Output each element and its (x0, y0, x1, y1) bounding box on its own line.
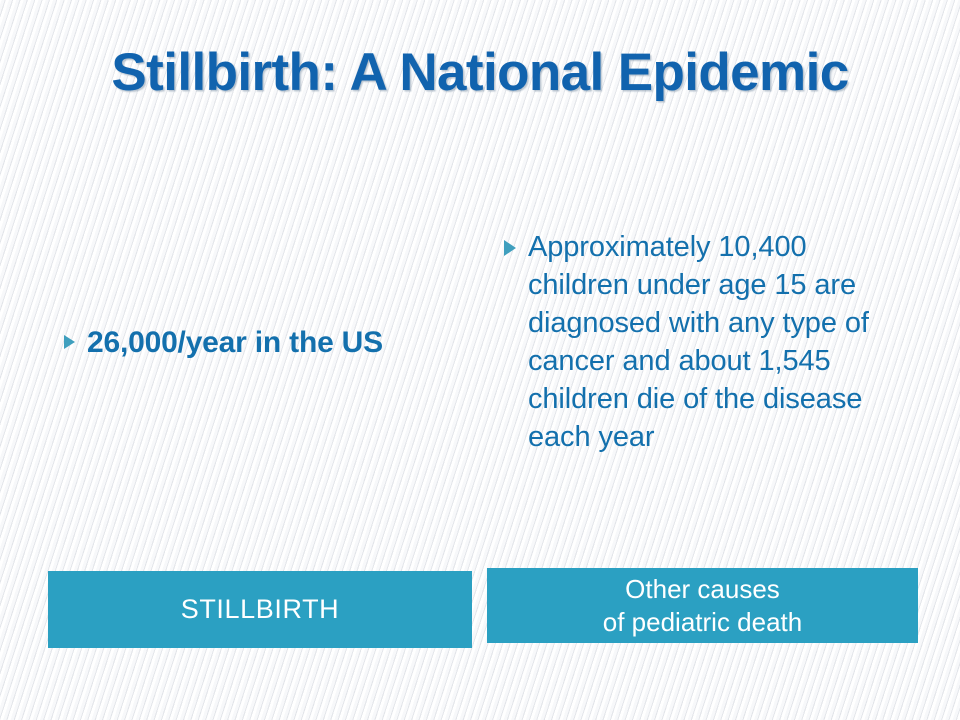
bullet-item-stillbirth-rate: 26,000/year in the US (64, 325, 474, 360)
label-box-other-causes: Other causes of pediatric death (487, 568, 918, 643)
bullet-item-cancer-stats: Approximately 10,400 children under age … (504, 228, 914, 456)
triangle-bullet-icon (504, 240, 516, 256)
bullet-text-stillbirth-rate: 26,000/year in the US (87, 325, 383, 360)
label-box-other-causes-line-1: Other causes (603, 573, 802, 606)
label-box-stillbirth-line-1: STILLBIRTH (181, 594, 340, 625)
slide-canvas: Stillbirth: A National Epidemic 26,000/y… (0, 0, 960, 720)
triangle-bullet-icon (64, 335, 75, 349)
page-title: Stillbirth: A National Epidemic (0, 44, 960, 101)
label-box-stillbirth: STILLBIRTH (48, 571, 472, 648)
label-box-other-causes-line-2: of pediatric death (603, 606, 802, 639)
bullet-text-cancer-stats: Approximately 10,400 children under age … (528, 228, 914, 456)
label-box-other-causes-text: Other causes of pediatric death (603, 573, 802, 639)
